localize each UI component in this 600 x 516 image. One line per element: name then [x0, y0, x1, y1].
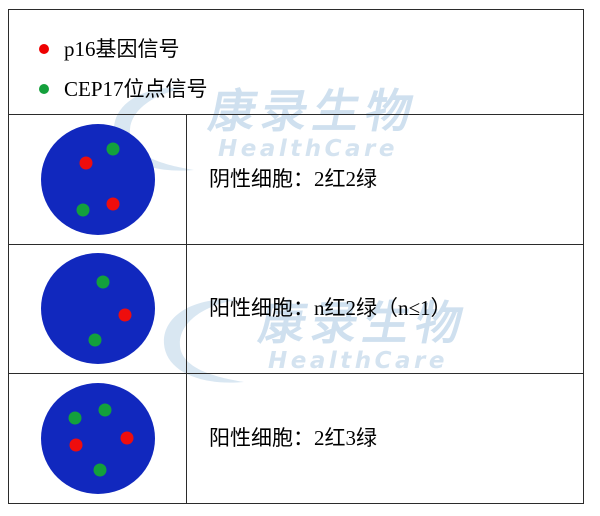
- table-row: 阳性细胞：2红3绿: [9, 374, 584, 504]
- green-signal-dot: [68, 411, 81, 424]
- green-signal-dot: [89, 334, 102, 347]
- green-signal-dot: [107, 143, 120, 156]
- nucleus-circle: [41, 124, 155, 235]
- green-dot-icon: [39, 84, 49, 94]
- fish-signal-table: p16基因信号 CEP17位点信号 阴性细胞：2红2绿: [8, 9, 584, 504]
- legend-item-label: p16基因信号: [64, 39, 180, 60]
- table-row: 阳性细胞：n红2绿（n≤1）: [9, 244, 584, 374]
- row-description: 阳性细胞：n红2绿（n≤1）: [187, 296, 583, 321]
- legend-row-container: p16基因信号 CEP17位点信号: [9, 10, 584, 115]
- red-signal-dot: [69, 439, 82, 452]
- red-dot-icon: [39, 44, 49, 54]
- red-signal-dot: [118, 308, 131, 321]
- nucleus-circle: [41, 253, 155, 364]
- cell-text-negative: 阴性细胞：2红2绿: [187, 115, 584, 245]
- nucleus-circle: [41, 383, 155, 494]
- nucleus-diagram: [9, 376, 186, 501]
- row-description: 阴性细胞：2红2绿: [187, 167, 583, 192]
- green-signal-dot: [76, 204, 89, 217]
- row-description: 阳性细胞：2红3绿: [187, 426, 583, 451]
- green-signal-dot: [99, 403, 112, 416]
- legend-item-label: CEP17位点信号: [64, 79, 208, 100]
- legend-item-cep17: CEP17位点信号: [39, 69, 583, 109]
- table-row: 阴性细胞：2红2绿: [9, 115, 584, 245]
- legend-cell: p16基因信号 CEP17位点信号: [9, 10, 584, 115]
- cell-text-positive-3green: 阳性细胞：2红3绿: [187, 374, 584, 504]
- green-signal-dot: [97, 276, 110, 289]
- nucleus-diagram: [9, 246, 186, 371]
- cell-text-positive-n: 阳性细胞：n红2绿（n≤1）: [187, 244, 584, 374]
- legend-item-p16: p16基因信号: [39, 29, 583, 69]
- cell-image-positive-n: [9, 244, 187, 374]
- red-signal-dot: [107, 197, 120, 210]
- cell-image-negative: [9, 115, 187, 245]
- legend: p16基因信号 CEP17位点信号: [9, 15, 583, 109]
- green-signal-dot: [93, 463, 106, 476]
- red-signal-dot: [121, 431, 134, 444]
- cell-image-positive-3green: [9, 374, 187, 504]
- red-signal-dot: [80, 156, 93, 169]
- nucleus-diagram: [9, 117, 186, 242]
